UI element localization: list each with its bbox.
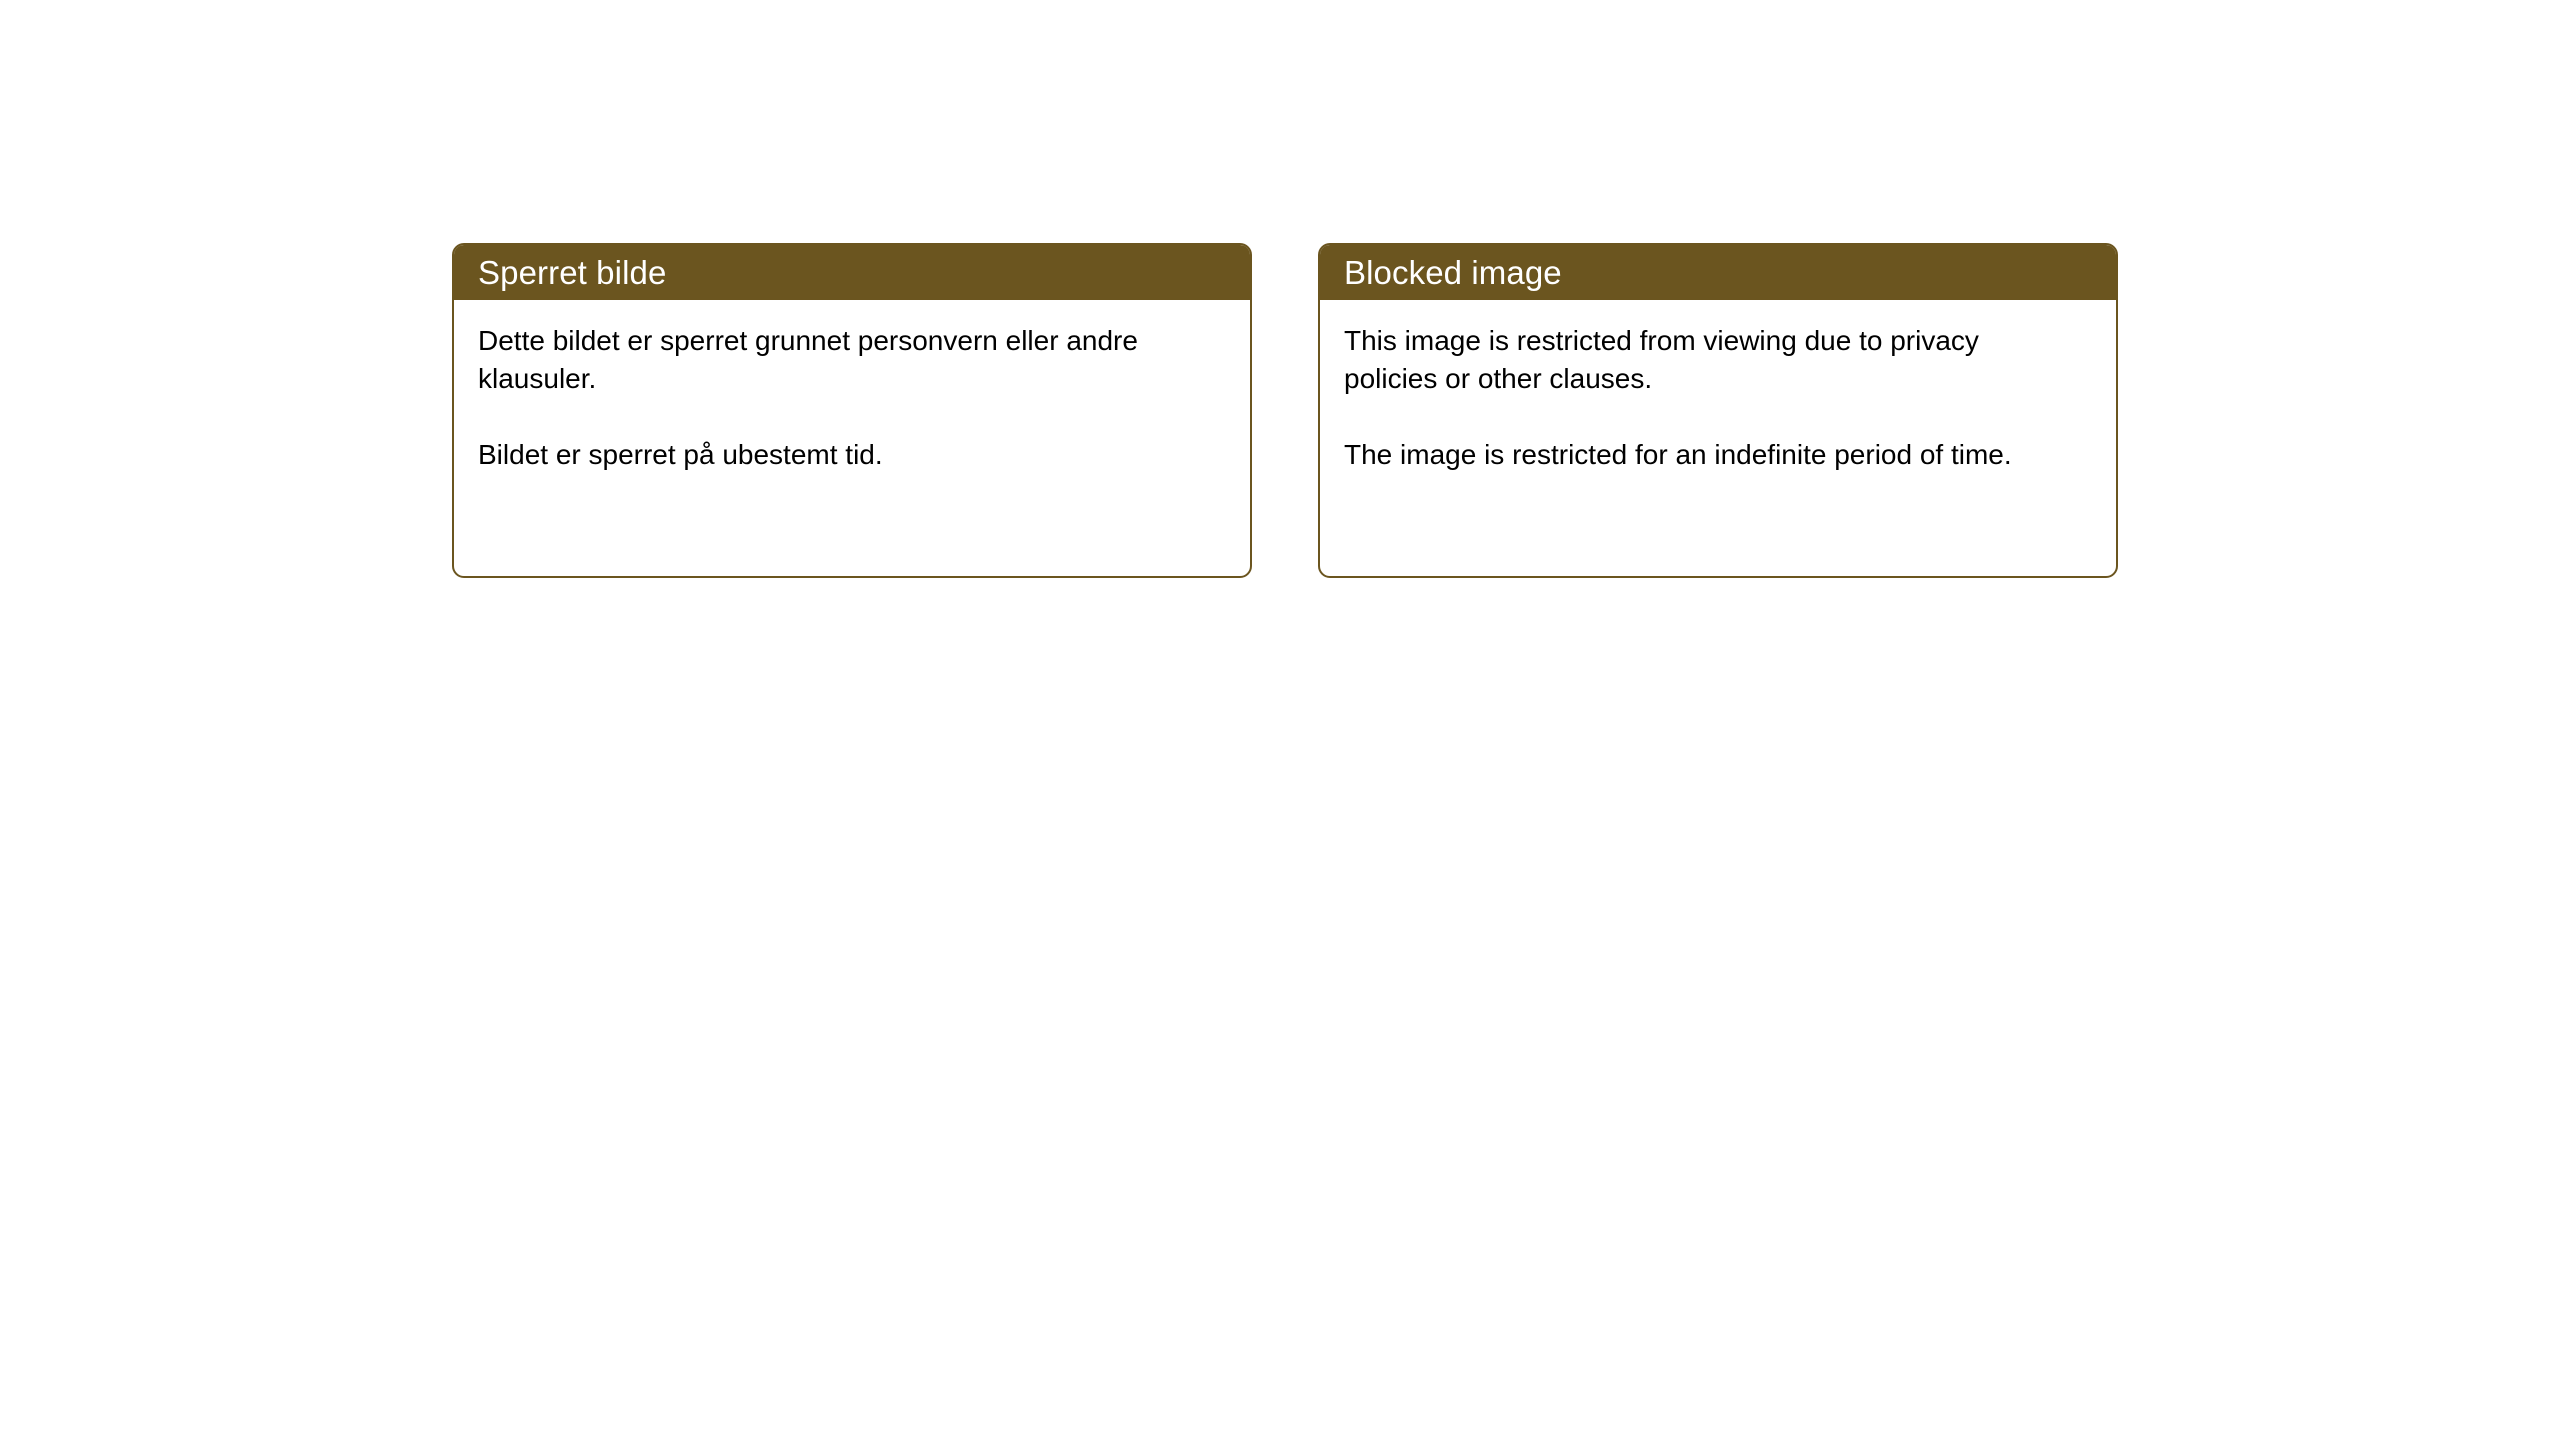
page-root: Sperret bilde Dette bildet er sperret gr…: [0, 0, 2560, 1440]
notice-card-title: Blocked image: [1344, 256, 1562, 289]
notice-card-body: This image is restricted from viewing du…: [1320, 300, 2116, 474]
notice-card-header: Sperret bilde: [454, 245, 1250, 300]
blocked-image-notice-card-norwegian: Sperret bilde Dette bildet er sperret gr…: [452, 243, 1252, 578]
paragraph-spacer: [478, 398, 1226, 436]
notice-paragraph-reason: Dette bildet er sperret grunnet personve…: [478, 322, 1178, 398]
notice-paragraph-reason: This image is restricted from viewing du…: [1344, 322, 2044, 398]
notice-paragraph-duration: The image is restricted for an indefinit…: [1344, 436, 2044, 474]
notice-card-header: Blocked image: [1320, 245, 2116, 300]
notice-paragraph-duration: Bildet er sperret på ubestemt tid.: [478, 436, 1178, 474]
notice-card-body: Dette bildet er sperret grunnet personve…: [454, 300, 1250, 474]
paragraph-spacer: [1344, 398, 2092, 436]
blocked-image-notice-card-english: Blocked image This image is restricted f…: [1318, 243, 2118, 578]
notice-card-title: Sperret bilde: [478, 256, 666, 289]
